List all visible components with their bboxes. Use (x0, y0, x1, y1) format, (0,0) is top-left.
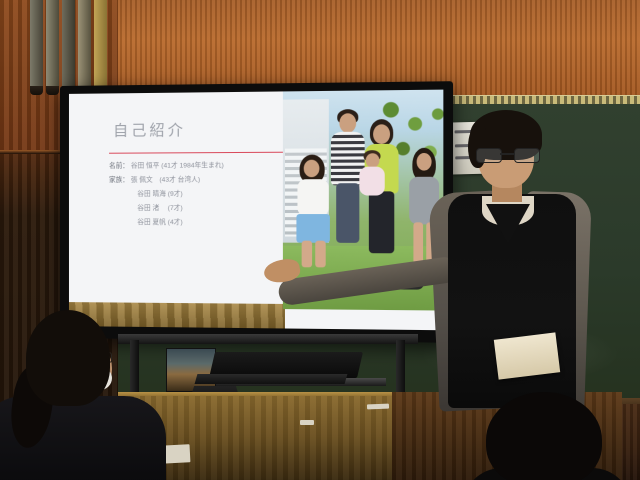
paper-note-2[interactable] (300, 420, 314, 425)
paper-note-1[interactable] (367, 404, 389, 410)
laptop-keyboard[interactable] (195, 374, 348, 384)
photo-figure-girl-left (295, 155, 331, 270)
slide-title: 自己紹介 (113, 119, 186, 141)
slide-line-value-4: 谷田 夏帆 (4才) (137, 219, 182, 226)
slide-line-label-0: 名前： (109, 163, 129, 170)
presentation-scene: 自己紹介 名前： 谷田 恒平 (41才 1984年生まれ) 家族： 張 佩文 (… (0, 0, 640, 480)
audience-member-left (0, 310, 180, 480)
audience-right-head (486, 392, 602, 480)
audience-left-hair (26, 310, 110, 406)
audience-member-right (468, 392, 618, 480)
slide-line-value-2: 谷田 晴海 (9才) (137, 191, 182, 198)
presenter-speaker (400, 108, 640, 408)
presentation-slide: 自己紹介 名前： 谷田 恒平 (41才 1984年生まれ) 家族： 張 佩文 (… (69, 90, 443, 331)
screen-surface: 自己紹介 名前： 谷田 恒平 (41才 1984年生まれ) 家族： 張 佩文 (… (69, 90, 443, 331)
presenter-book[interactable] (494, 332, 560, 379)
slide-line-label-1: 家族： (109, 177, 129, 184)
photo-figure-baby (358, 150, 385, 195)
slide-line-value-1: 張 佩文 (43才 台湾人) (131, 176, 200, 183)
slide-title-underline (109, 152, 288, 154)
presenter-glasses (476, 148, 538, 161)
large-display-screen[interactable]: 自己紹介 名前： 谷田 恒平 (41才 1984年生まれ) 家族： 張 佩文 (… (60, 81, 453, 343)
slide-line-value-0: 谷田 恒平 (41才 1984年生まれ) (131, 162, 224, 169)
slide-body-lines: 名前： 谷田 恒平 (41才 1984年生まれ) 家族： 張 佩文 (43才 台… (109, 163, 304, 234)
slide-line-value-3: 谷田 渚 (7才) (137, 205, 182, 212)
